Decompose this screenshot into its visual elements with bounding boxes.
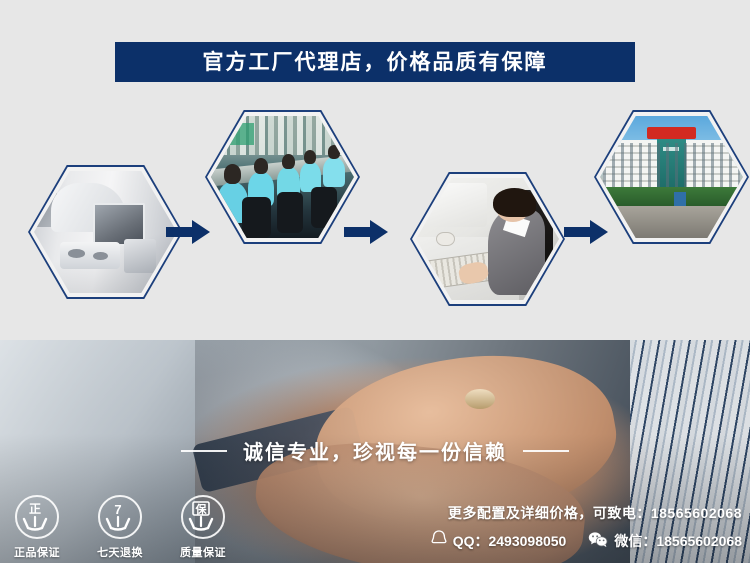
contact-im-line: QQ：2493098050 微信：18565602068 — [431, 530, 742, 551]
building-trees — [600, 187, 743, 207]
factory-chair — [242, 197, 271, 238]
qq-label: QQ：2493098050 — [453, 531, 567, 551]
trust-hero-section: 诚信专业，珍视每一份信赖 正 正品保证 7 — [0, 340, 750, 563]
building-rooftop-sign — [647, 127, 696, 139]
guarantee-badge-label: 质量保证 — [172, 544, 234, 560]
arrow-right-icon — [344, 218, 388, 246]
office-person-hair — [493, 188, 536, 217]
wechat-label: 微信：18565602068 — [614, 531, 742, 551]
contact-block: 更多配置及详细价格，可致电：18565602068 QQ：2493098050 — [431, 503, 742, 551]
building-windows — [603, 143, 740, 189]
factory-worker — [323, 157, 346, 186]
authentic-hands-icon: 正 — [15, 495, 59, 539]
guarantee-badge-label: 七天退换 — [89, 544, 151, 560]
bottom-white-strip — [0, 563, 750, 576]
guarantee-badge-authentic: 正 正品保证 — [6, 495, 68, 560]
tagline-text: 诚信专业，珍视每一份信赖 — [243, 436, 507, 465]
qq-penguin-icon — [431, 530, 447, 551]
factory-chair — [277, 192, 303, 233]
guarantee-badge-seven-day-return: 7 七天退换 — [89, 495, 151, 560]
tagline-row: 诚信专业，珍视每一份信赖 — [0, 436, 750, 465]
tagline-rule-left — [181, 450, 227, 452]
process-flow-section: 官方工厂代理店，价格品质有保障 — [0, 0, 750, 340]
svg-text:正: 正 — [29, 502, 41, 516]
guarantee-badges: 正 正品保证 7 七天退换 — [6, 495, 234, 560]
process-step-4-hexagon — [594, 110, 749, 244]
contact-phone-line: 更多配置及详细价格，可致电：18565602068 — [431, 503, 742, 523]
headline-text: 官方工厂代理店，价格品质有保障 — [203, 52, 548, 73]
svg-text:7: 7 — [114, 502, 121, 517]
process-step-3-hexagon — [410, 172, 565, 306]
process-step-1-hexagon — [28, 165, 183, 299]
seven-day-return-hands-icon: 7 — [98, 495, 142, 539]
headline-banner: 官方工厂代理店，价格品质有保障 — [115, 42, 635, 82]
quality-hands-icon: 保 — [181, 495, 225, 539]
machine-knob — [68, 249, 85, 258]
office-mouse — [436, 232, 455, 246]
arrow-right-icon — [166, 218, 210, 246]
svg-text:保: 保 — [195, 502, 208, 516]
promo-banner-page: 官方工厂代理店，价格品质有保障 — [0, 0, 750, 576]
tagline-rule-right — [523, 450, 569, 452]
machine-cabinet — [124, 239, 155, 273]
wechat-icon — [588, 531, 608, 551]
process-step-2-hexagon — [205, 110, 360, 244]
guarantee-badge-quality: 保 质量保证 — [172, 495, 234, 560]
guarantee-badge-label: 正品保证 — [6, 544, 68, 560]
